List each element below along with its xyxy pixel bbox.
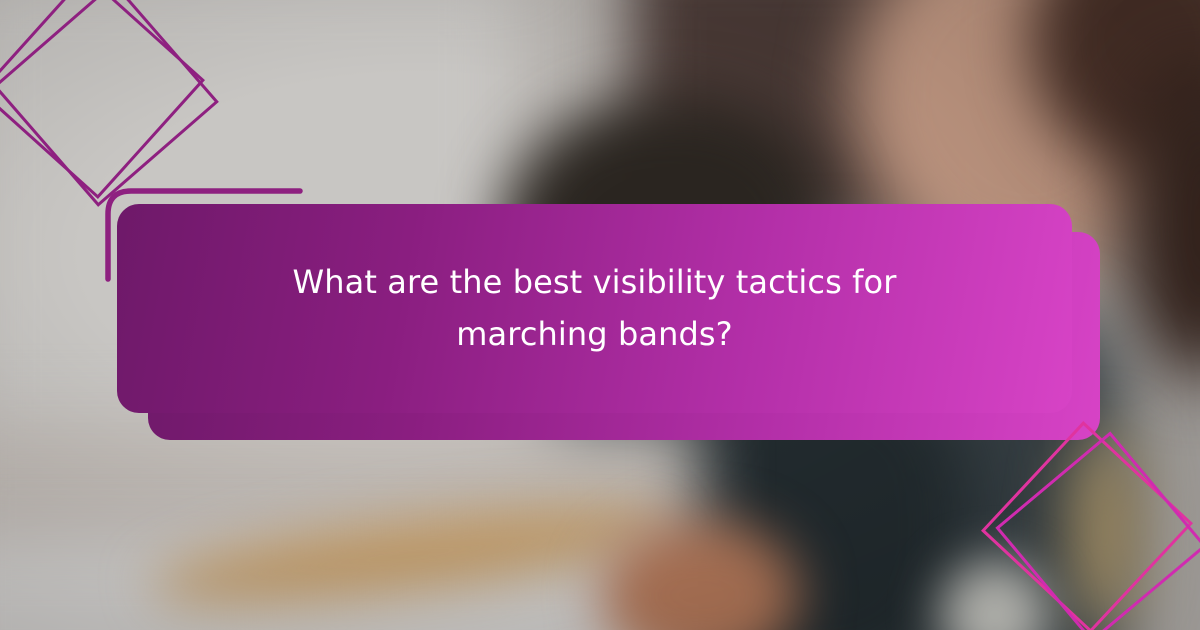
promo-card-canvas: What are the best visibility tactics for… <box>0 0 1200 630</box>
headline-card: What are the best visibility tactics for… <box>117 204 1072 413</box>
headline-text: What are the best visibility tactics for… <box>255 257 935 361</box>
